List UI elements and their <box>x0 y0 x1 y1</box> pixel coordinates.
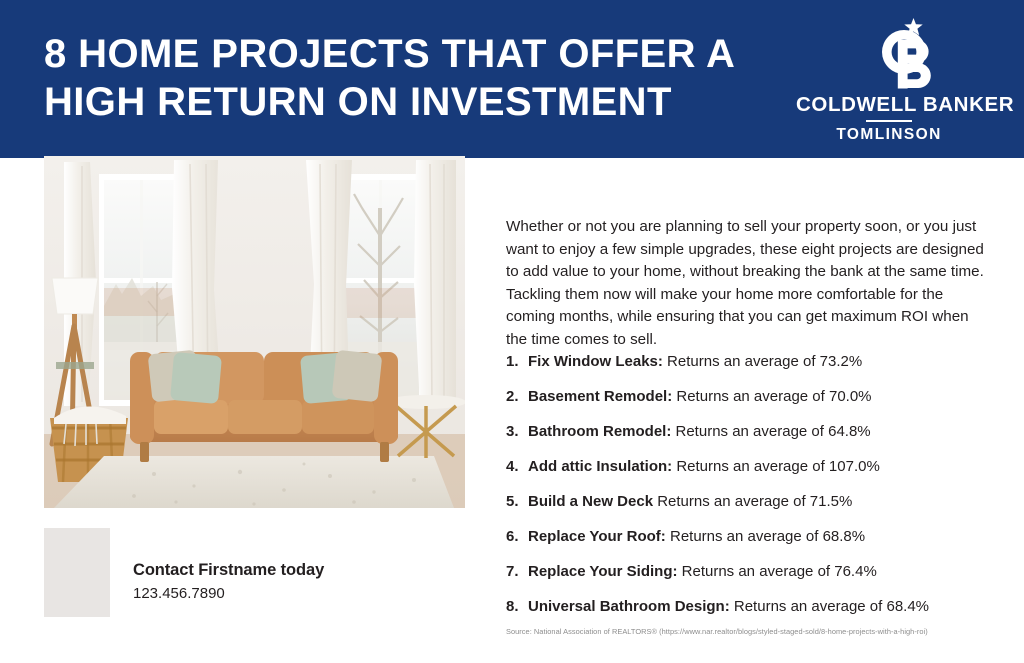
logo-divider <box>866 120 912 122</box>
contact-name: Contact Firstname today <box>133 559 463 581</box>
list-item-number: 4. <box>506 457 519 476</box>
list-item-label: Universal Bathroom Design: <box>528 598 730 615</box>
list-item-number: 6. <box>506 527 519 546</box>
list-item-description: Returns an average of 76.4% <box>677 563 876 580</box>
living-room-photo <box>44 156 465 508</box>
project-list: 1.Fix Window Leaks: Returns an average o… <box>506 352 996 632</box>
list-item: 8.Universal Bathroom Design: Returns an … <box>506 597 996 616</box>
logo-subname: TOMLINSON <box>796 126 982 143</box>
list-item-description: Returns an average of 68.8% <box>666 528 865 545</box>
intro-paragraph: Whether or not you are planning to sell … <box>506 216 988 352</box>
page-title: 8 HOME PROJECTS THAT OFFER A HIGH RETURN… <box>44 30 774 126</box>
list-item-label: Replace Your Roof: <box>528 528 666 545</box>
list-item-description: Returns an average of 73.2% <box>663 353 862 370</box>
contact-phone[interactable]: 123.456.7890 <box>133 583 463 605</box>
list-item-number: 1. <box>506 352 519 371</box>
list-item-label: Build a New Deck <box>528 493 653 510</box>
list-item: 7.Replace Your Siding: Returns an averag… <box>506 562 996 581</box>
list-item-description: Returns an average of 68.4% <box>730 598 929 615</box>
logo-wordmark: COLDWELL BANKER <box>796 94 982 116</box>
list-item-number: 7. <box>506 562 519 581</box>
list-item-label: Fix Window Leaks: <box>528 353 663 370</box>
source-attribution: Source: National Association of REALTORS… <box>506 627 1006 637</box>
list-item-number: 5. <box>506 492 519 511</box>
list-item: 1.Fix Window Leaks: Returns an average o… <box>506 352 996 371</box>
list-item-label: Bathroom Remodel: <box>528 423 671 440</box>
list-item: 3.Bathroom Remodel: Returns an average o… <box>506 422 996 441</box>
page-header: 8 HOME PROJECTS THAT OFFER A HIGH RETURN… <box>0 0 1024 158</box>
list-item-description: Returns an average of 70.0% <box>672 388 871 405</box>
coldwell-banker-cb-star-icon <box>796 16 982 94</box>
list-item-number: 8. <box>506 597 519 616</box>
list-item-label: Basement Remodel: <box>528 388 672 405</box>
contact-block: Contact Firstname today 123.456.7890 <box>133 559 463 605</box>
list-item-label: Add attic Insulation: <box>528 458 672 475</box>
list-item: 2.Basement Remodel: Returns an average o… <box>506 387 996 406</box>
list-item-number: 3. <box>506 422 519 441</box>
list-item: 6.Replace Your Roof: Returns an average … <box>506 527 996 546</box>
list-item: 5.Build a New Deck Returns an average of… <box>506 492 996 511</box>
list-item-description: Returns an average of 64.8% <box>671 423 870 440</box>
list-item-label: Replace Your Siding: <box>528 563 677 580</box>
list-item: 4.Add attic Insulation: Returns an avera… <box>506 457 996 476</box>
list-item-description: Returns an average of 71.5% <box>653 493 852 510</box>
agent-headshot-placeholder <box>44 528 110 617</box>
list-item-number: 2. <box>506 387 519 406</box>
list-item-description: Returns an average of 107.0% <box>672 458 880 475</box>
brand-logo: COLDWELL BANKER TOMLINSON <box>796 16 982 143</box>
